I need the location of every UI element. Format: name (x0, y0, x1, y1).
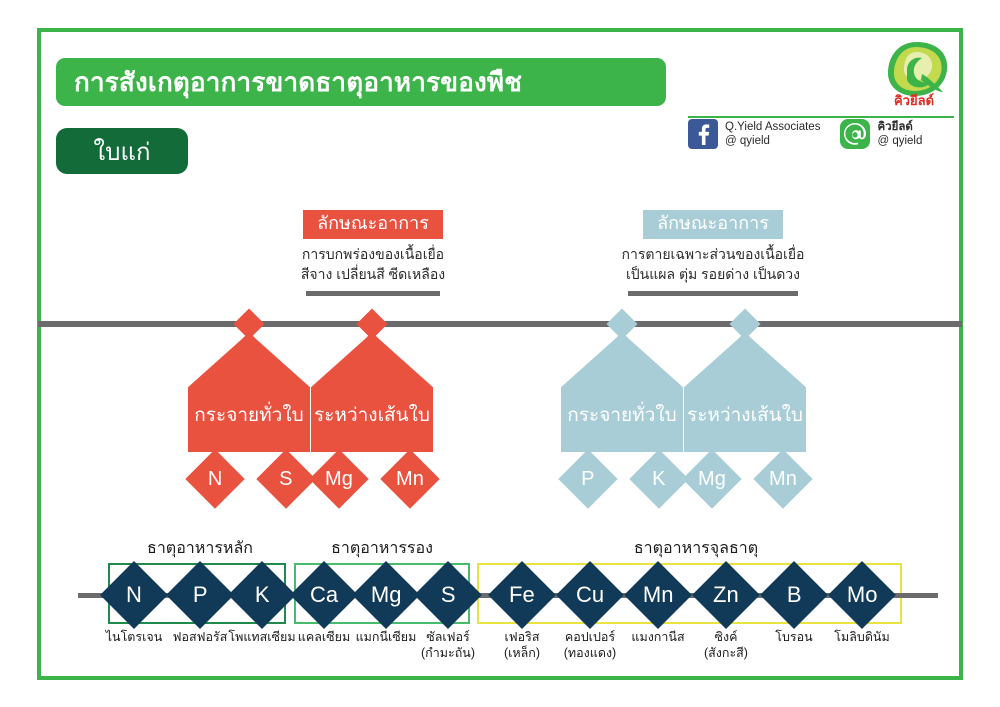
facebook-handle: @ qyield (725, 134, 820, 148)
page-title-text: การสังเกตุอาการขาดธาตุอาหารของพืช (74, 62, 522, 103)
line-name: คิวยีลด์ (877, 120, 922, 134)
qyield-logo: คิวยีลด์ (877, 40, 951, 118)
symptom-block-blue: ลักษณะอาการ การตายเฉพาะส่วนของเนื้อเยื่อ… (548, 210, 878, 296)
branch-label-red-2: ระหว่างเส้นใบ (314, 400, 430, 452)
nutrient-symbol-mo: Mo (847, 584, 878, 606)
line-handle: @ qyield (877, 134, 922, 148)
leaf-stage-label: ใบแก่ (94, 132, 151, 171)
nutrient-symbol-p: P (193, 584, 208, 606)
nutrient-symbol-cu: Cu (576, 584, 604, 606)
nutrient-label-mo: โมลิบดินัม (807, 630, 917, 646)
social-facebook[interactable]: Q.Yield Associates @ qyield (688, 119, 820, 149)
social-line[interactable]: คิวยีลด์ @ qyield (840, 119, 922, 149)
symptom-underline-red (306, 291, 440, 296)
page-title: การสังเกตุอาการขาดธาตุอาหารของพืช (56, 58, 666, 106)
branch-label-blue-2: ระหว่างเส้นใบ (687, 400, 803, 452)
leaf-stage-badge: ใบแก่ (56, 128, 188, 174)
symptom-desc-blue-line2: เป็นแผล ตุ่ม รอยด่าง เป็นดวง (548, 264, 878, 284)
nutrient-label-mo-l1: โมลิบดินัม (807, 630, 917, 646)
nutrient-label-cu-l2: (ทองแดง) (535, 646, 645, 662)
brand-word: คิวยีลด์ (877, 94, 951, 107)
symptom-block-red: ลักษณะอาการ การบกพร่องของเนื้อเยื่อ สีจา… (228, 210, 518, 296)
nutrient-symbol-zn: Zn (713, 584, 739, 606)
branch-label-blue-1: กระจายทั่วใบ (567, 400, 676, 452)
facebook-icon (688, 119, 718, 149)
symptom-desc-blue-line1: การตายเฉพาะส่วนของเนื้อเยื่อ (548, 244, 878, 264)
nutrient-group-title-2: ธาตุอาหารรอง (294, 536, 470, 561)
element-symbol-k: K (652, 469, 665, 489)
social-divider (688, 116, 954, 118)
leaf-q-icon (877, 40, 951, 100)
element-symbol-p: P (581, 469, 594, 489)
element-symbol-n: N (208, 469, 222, 489)
nutrient-label-zn-l2: (สังกะสี) (671, 646, 781, 662)
element-symbol-mg-blue: Mg (698, 469, 726, 489)
symptom-underline-blue (628, 291, 798, 296)
nutrient-symbol-mn: Mn (643, 584, 674, 606)
facebook-name: Q.Yield Associates (725, 120, 820, 134)
element-symbol-mg-red: Mg (325, 469, 353, 489)
element-symbol-mn-blue: Mn (769, 469, 797, 489)
symptom-tag-red: ลักษณะอาการ (303, 210, 443, 239)
nutrient-symbol-b: B (787, 584, 802, 606)
facebook-text: Q.Yield Associates @ qyield (725, 120, 820, 149)
line-at-icon (840, 119, 870, 149)
nutrient-symbol-fe: Fe (509, 584, 535, 606)
symptom-tag-blue: ลักษณะอาการ (643, 210, 783, 239)
nutrient-group-title-3: ธาตุอาหารจุลธาตุ (546, 536, 846, 561)
symptom-desc-red-line2: สีจาง เปลี่ยนสี ซีดเหลือง (228, 264, 518, 284)
nutrient-symbol-k: K (255, 584, 270, 606)
element-symbol-s: S (279, 469, 292, 489)
nutrient-symbol-ca: Ca (310, 584, 338, 606)
nutrient-symbol-n: N (126, 584, 142, 606)
element-symbol-mn-red: Mn (396, 469, 424, 489)
nutrient-symbol-s: S (441, 584, 456, 606)
social-links: Q.Yield Associates @ qyield คิวยีลด์ @ q… (688, 119, 922, 149)
nutrient-symbol-mg: Mg (371, 584, 402, 606)
nutrient-group-title-1: ธาตุอาหารหลัก (110, 536, 290, 561)
branch-label-red-1: กระจายทั่วใบ (194, 400, 303, 452)
symptom-desc-red-line1: การบกพร่องของเนื้อเยื่อ (228, 244, 518, 264)
infographic-root: การสังเกตุอาการขาดธาตุอาหารของพืช คิวยีล… (0, 0, 1000, 707)
line-text: คิวยีลด์ @ qyield (877, 120, 922, 149)
main-divider-line (38, 321, 962, 327)
